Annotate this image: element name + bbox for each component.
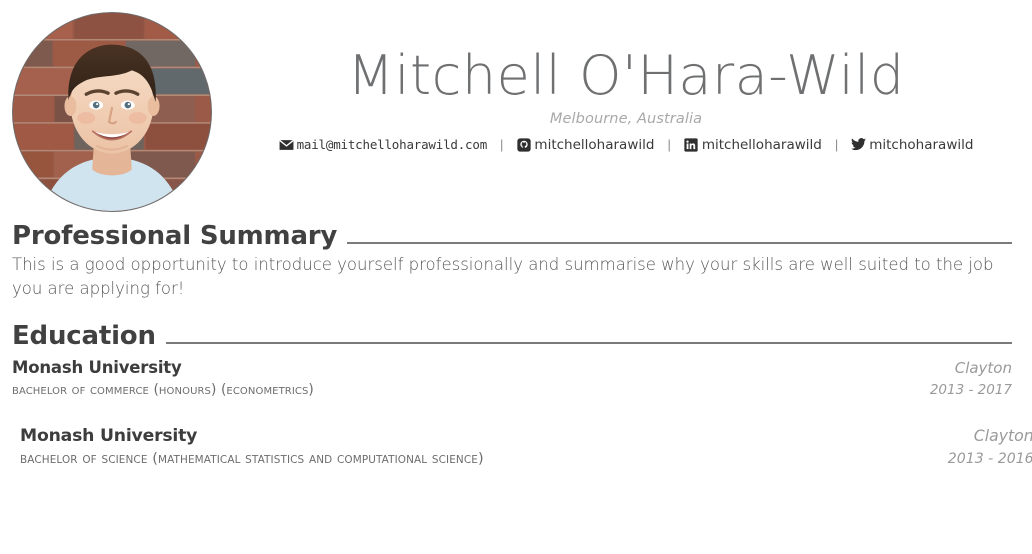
- entry-dates: 2013 - 2017: [930, 382, 1012, 398]
- spacer: [0, 300, 1032, 322]
- contact-line: mail@mitchelloharawild.com | mitchelloha…: [240, 137, 1012, 153]
- section-rule: [166, 342, 1012, 344]
- header-tagline: Melbourne, Australia: [240, 111, 1012, 127]
- section-rule: [347, 242, 1012, 244]
- linkedin-icon: [684, 137, 699, 152]
- section-title-education: Education: [12, 322, 156, 351]
- github-icon: [516, 137, 531, 152]
- professional-summary-text: This is a good opportunity to introduce …: [12, 253, 1012, 301]
- entry-secondary-row: Bachelor of Science (Mathematical Statis…: [20, 450, 1032, 467]
- twitter-icon: [851, 137, 866, 152]
- contact-email[interactable]: mail@mitchelloharawild.com: [279, 137, 487, 152]
- contact-github[interactable]: mitchelloharawild: [516, 137, 654, 153]
- header-text-block: Mitchell O'Hara-Wild Melbourne, Australi…: [240, 48, 1012, 153]
- contact-separator: |: [487, 137, 516, 152]
- contact-email-text: mail@mitchelloharawild.com: [297, 137, 487, 152]
- entry-primary-row: Monash University Clayton: [20, 425, 1032, 445]
- entry-degree: Bachelor of Commerce (Honours) (Economet…: [12, 382, 314, 398]
- avatar: [12, 12, 220, 212]
- section-header: Education: [12, 322, 1012, 351]
- cv-page: Mitchell O'Hara-Wild Melbourne, Australi…: [0, 0, 1032, 554]
- contact-linkedin-text: mitchelloharawild: [702, 137, 822, 153]
- contact-linkedin[interactable]: mitchelloharawild: [684, 137, 822, 153]
- entry-location: Clayton: [955, 359, 1012, 377]
- contact-twitter[interactable]: mitchoharawild: [851, 137, 973, 153]
- entry-degree: Bachelor of Science (Mathematical Statis…: [20, 450, 484, 467]
- section-education: Education Monash University Clayton Bach…: [0, 322, 1032, 467]
- profile-photo: [12, 12, 212, 212]
- section-title-professional-summary: Professional Summary: [12, 222, 337, 251]
- entry-dates: 2013 - 2016: [948, 450, 1032, 467]
- entry-institution: Monash University: [12, 358, 182, 377]
- envelope-icon: [279, 137, 294, 152]
- contact-separator: |: [654, 137, 683, 152]
- section-header: Professional Summary: [12, 222, 1012, 251]
- education-entry: Monash University Clayton Bachelor of Sc…: [20, 422, 1032, 469]
- education-entry: Monash University Clayton Bachelor of Co…: [12, 355, 1012, 400]
- entry-location: Clayton: [974, 426, 1032, 445]
- cv-header: Mitchell O'Hara-Wild Melbourne, Australi…: [0, 0, 1032, 222]
- contact-github-text: mitchelloharawild: [534, 137, 654, 153]
- contact-twitter-text: mitchoharawild: [869, 137, 973, 153]
- entry-institution: Monash University: [20, 425, 197, 445]
- entry-secondary-row: Bachelor of Commerce (Honours) (Economet…: [12, 382, 1012, 398]
- section-professional-summary: Professional Summary This is a good oppo…: [0, 222, 1032, 300]
- page-title: Mitchell O'Hara-Wild: [240, 48, 1012, 105]
- entry-primary-row: Monash University Clayton: [12, 358, 1012, 377]
- education-entries: Monash University Clayton Bachelor of Co…: [12, 355, 1012, 467]
- contact-separator: |: [822, 137, 851, 152]
